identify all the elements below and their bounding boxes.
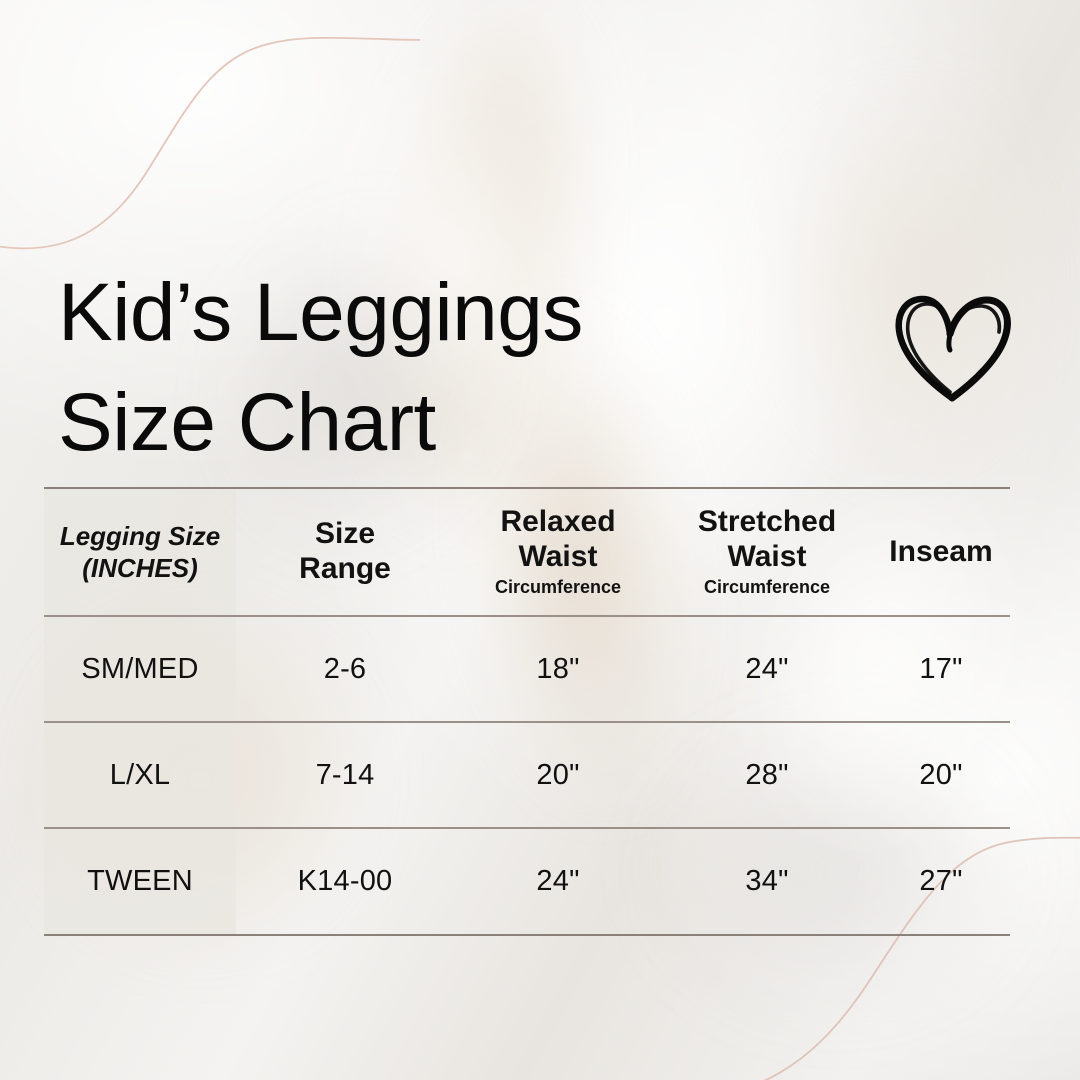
table-rule-bottom (44, 934, 1010, 936)
column-header-size-range: Size Range (236, 489, 454, 615)
heart-doodle-icon (890, 278, 1020, 406)
cell-legging-size-value: SM/MED (81, 653, 198, 686)
cell-legging-size: L/XL (44, 722, 236, 828)
size-chart-poster: Kid’s Leggings Size Chart Legging Size (… (0, 0, 1080, 1080)
column-header-stretched-waist-sublabel: Circumference (704, 577, 830, 599)
cell-size-range: 2-6 (236, 616, 454, 722)
cell-stretched-waist: 28" (662, 722, 872, 828)
cell-relaxed-waist: 18" (454, 616, 662, 722)
cell-inseam-value: 27" (919, 865, 962, 898)
cell-stretched-waist: 24" (662, 616, 872, 722)
cell-relaxed-waist: 20" (454, 722, 662, 828)
table-header-row: Legging Size (INCHES) Size Range Relaxed… (44, 489, 1010, 615)
cell-inseam: 17" (872, 616, 1010, 722)
column-header-inseam: Inseam (872, 489, 1010, 615)
cell-size-range-value: 7-14 (316, 759, 375, 792)
column-header-stretched-waist-label: Stretched Waist (698, 505, 836, 575)
cell-inseam-value: 17" (919, 653, 962, 686)
cell-size-range: K14-00 (236, 828, 454, 934)
cell-stretched-waist-value: 28" (745, 759, 788, 792)
cell-legging-size: SM/MED (44, 616, 236, 722)
cell-size-range: 7-14 (236, 722, 454, 828)
table-row: TWEEN K14-00 24" 34" 27" (44, 828, 1010, 934)
cell-stretched-waist: 34" (662, 828, 872, 934)
column-header-stretched-waist: Stretched Waist Circumference (662, 489, 872, 615)
cell-legging-size-value: L/XL (110, 759, 170, 792)
table-row: L/XL 7-14 20" 28" 20" (44, 722, 1010, 828)
cell-legging-size: TWEEN (44, 828, 236, 934)
cell-inseam: 20" (872, 722, 1010, 828)
cell-relaxed-waist: 24" (454, 828, 662, 934)
cell-stretched-waist-value: 24" (745, 653, 788, 686)
page-title: Kid’s Leggings Size Chart (58, 258, 818, 478)
column-header-legging-size: Legging Size (INCHES) (44, 489, 236, 615)
size-chart-table: Legging Size (INCHES) Size Range Relaxed… (44, 487, 1010, 936)
cell-legging-size-value: TWEEN (87, 865, 193, 898)
column-header-relaxed-waist-sublabel: Circumference (495, 577, 621, 599)
table-row: SM/MED 2-6 18" 24" 17" (44, 616, 1010, 722)
cell-inseam-value: 20" (919, 759, 962, 792)
column-header-inseam-label: Inseam (889, 535, 992, 570)
cell-stretched-waist-value: 34" (745, 865, 788, 898)
cell-relaxed-waist-value: 24" (536, 865, 579, 898)
cell-relaxed-waist-value: 20" (536, 759, 579, 792)
column-header-legging-size-label: Legging Size (INCHES) (60, 520, 220, 584)
cell-size-range-value: 2-6 (324, 653, 367, 686)
column-header-size-range-label: Size Range (299, 517, 391, 587)
cell-relaxed-waist-value: 18" (536, 653, 579, 686)
cell-inseam: 27" (872, 828, 1010, 934)
cell-size-range-value: K14-00 (298, 865, 393, 898)
column-header-relaxed-waist: Relaxed Waist Circumference (454, 489, 662, 615)
column-header-relaxed-waist-label: Relaxed Waist (500, 505, 615, 575)
